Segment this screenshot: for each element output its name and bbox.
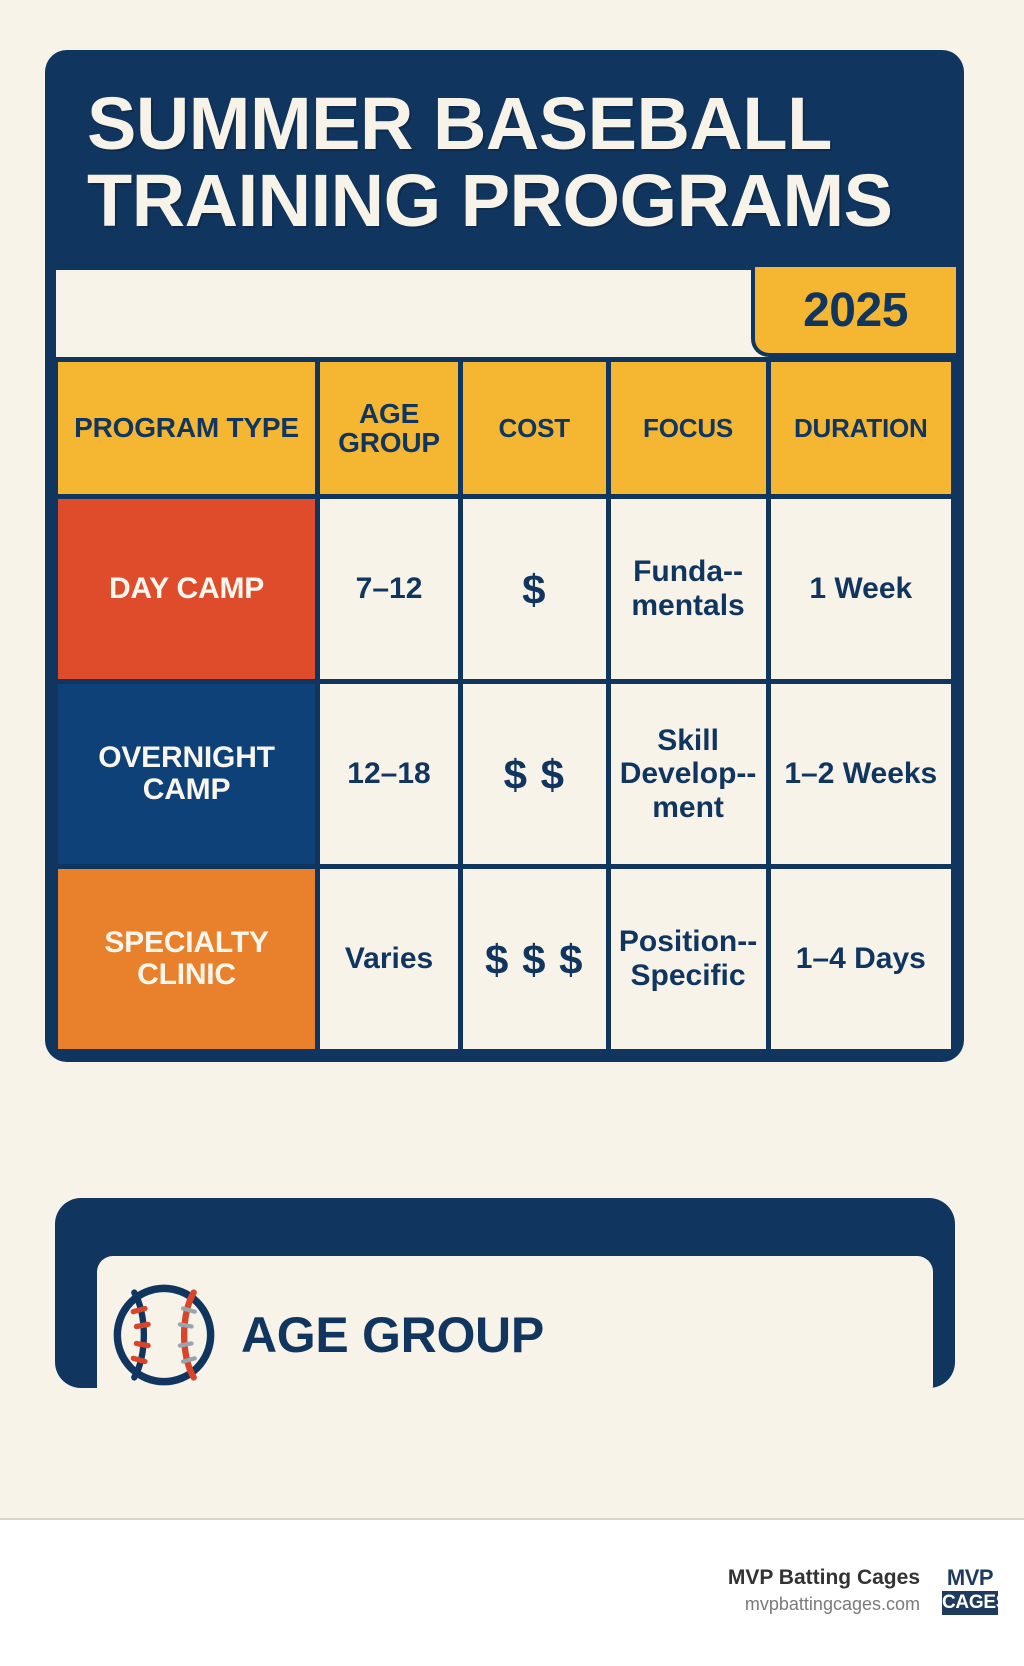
- footer-website-url[interactable]: mvpbattingcages.com: [728, 1591, 920, 1617]
- value-cost-overnight-camp: $ $: [463, 684, 605, 864]
- poster-page: SUMMER BASEBALL TRAINING PROGRAMS 2025 P…: [0, 0, 1024, 1666]
- table-row: SPECIALTY CLINIC Varies $ $ $ Position-­…: [58, 869, 951, 1049]
- column-header-focus: FOCUS: [611, 362, 766, 494]
- column-header-focus-label: FOCUS: [611, 362, 766, 494]
- value-duration-day-camp: 1 Week: [771, 499, 951, 679]
- year-badge: 2025: [751, 267, 956, 357]
- mvp-cages-logo: MVP CAGES: [942, 1567, 998, 1615]
- table-header-row: PROGRAM TYPE AGE GROUP COST FOCUS DURATI: [58, 362, 951, 494]
- cell-focus: Position-­Specific: [611, 869, 766, 1049]
- page-title-line-1: SUMMER BASEBALL: [87, 88, 922, 161]
- baseball-icon: [111, 1282, 217, 1388]
- value-cost-specialty-clinic: $ $ $: [463, 869, 605, 1049]
- table-row: OVERNIGHT CAMP 12–18 $ $ Skill Develop-­…: [58, 684, 951, 864]
- cell-cost: $: [463, 499, 605, 679]
- value-cost-day-camp: $: [463, 499, 605, 679]
- footer-brand-name: MVP Batting Cages: [728, 1564, 920, 1591]
- row-label-day-camp: DAY CAMP: [58, 499, 315, 679]
- footer: MVP Batting Cages mvpbattingcages.com MV…: [0, 1520, 1024, 1666]
- year-strip: 2025: [53, 267, 956, 357]
- legend-banner: AGE GROUP: [55, 1198, 955, 1388]
- logo-top-text: MVP: [942, 1567, 998, 1589]
- comparison-table-wrapper: PROGRAM TYPE AGE GROUP COST FOCUS DURATI: [45, 357, 964, 1062]
- cell-cost: $ $ $: [463, 869, 605, 1049]
- column-header-cost: COST: [463, 362, 605, 494]
- row-label-specialty-clinic: SPECIALTY CLINIC: [58, 869, 315, 1049]
- cell-focus: Skill Develop-­ment: [611, 684, 766, 864]
- value-age-group-overnight-camp: 12–18: [320, 684, 458, 864]
- column-header-duration: DURATION: [771, 362, 951, 494]
- value-focus-specialty-clinic: Position-­Specific: [611, 869, 766, 1049]
- value-focus-overnight-camp: Skill Develop-­ment: [611, 684, 766, 864]
- cell-program-type: SPECIALTY CLINIC: [58, 869, 315, 1049]
- legend-inner-panel: AGE GROUP: [97, 1256, 933, 1388]
- cell-focus: Funda-­mentals: [611, 499, 766, 679]
- table-row: DAY CAMP 7–12 $ Funda-­mentals 1 Week: [58, 499, 951, 679]
- value-focus-day-camp: Funda-­mentals: [611, 499, 766, 679]
- column-header-age-group-label: AGE GROUP: [320, 362, 458, 494]
- value-age-group-specialty-clinic: Varies: [320, 869, 458, 1049]
- column-header-cost-label: COST: [463, 362, 605, 494]
- footer-text-block: MVP Batting Cages mvpbattingcages.com: [728, 1564, 920, 1617]
- title-block: SUMMER BASEBALL TRAINING PROGRAMS: [45, 50, 964, 267]
- column-header-age-group: AGE GROUP: [320, 362, 458, 494]
- page-title-line-2: TRAINING PROGRAMS: [87, 165, 922, 238]
- column-header-program-type-label: PROGRAM TYPE: [58, 362, 315, 494]
- value-duration-specialty-clinic: 1–4 Days: [771, 869, 951, 1049]
- footer-content: MVP Batting Cages mvpbattingcages.com MV…: [728, 1564, 998, 1617]
- legend-label: AGE GROUP: [241, 1306, 544, 1364]
- cell-cost: $ $: [463, 684, 605, 864]
- cell-program-type: DAY CAMP: [58, 499, 315, 679]
- value-duration-overnight-camp: 1–2 Weeks: [771, 684, 951, 864]
- column-header-program-type: PROGRAM TYPE: [58, 362, 315, 494]
- logo-bottom-text: CAGES: [942, 1591, 998, 1615]
- cell-age-group: Varies: [320, 869, 458, 1049]
- cell-age-group: 12–18: [320, 684, 458, 864]
- cell-duration: 1–4 Days: [771, 869, 951, 1049]
- cell-age-group: 7–12: [320, 499, 458, 679]
- cell-duration: 1 Week: [771, 499, 951, 679]
- row-label-overnight-camp: OVERNIGHT CAMP: [58, 684, 315, 864]
- column-header-duration-label: DURATION: [771, 362, 951, 494]
- cell-duration: 1–2 Weeks: [771, 684, 951, 864]
- main-card: SUMMER BASEBALL TRAINING PROGRAMS 2025 P…: [45, 50, 964, 1062]
- value-age-group-day-camp: 7–12: [320, 499, 458, 679]
- comparison-table: PROGRAM TYPE AGE GROUP COST FOCUS DURATI: [53, 357, 956, 1054]
- cell-program-type: OVERNIGHT CAMP: [58, 684, 315, 864]
